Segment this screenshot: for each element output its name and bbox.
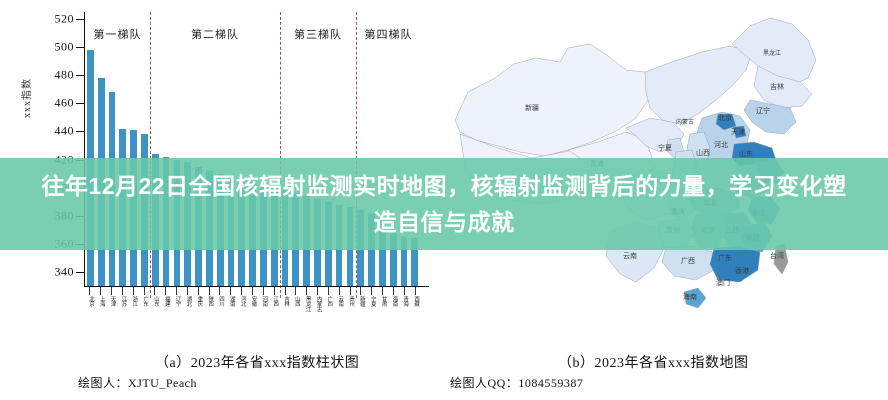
x-axis-tick-label: 湖北	[183, 296, 190, 307]
province-label: 云南	[623, 251, 637, 260]
province-label: 北京	[718, 113, 732, 122]
x-axis-tick-mark	[350, 287, 351, 295]
x-axis-tick-label: 北京	[86, 296, 93, 307]
x-axis-tick-label: 浙江	[129, 296, 136, 307]
y-axis-tick-mark	[76, 272, 84, 273]
x-axis-tick-label: 安徽	[249, 296, 256, 307]
x-axis-tick-mark	[360, 287, 361, 295]
x-axis-tick-mark	[382, 287, 383, 295]
province-label: 黑龙江	[763, 49, 781, 57]
x-axis-tick-mark	[241, 287, 242, 295]
y-axis-tick-label: 500	[55, 40, 75, 55]
x-axis-tick-mark	[274, 287, 275, 295]
x-axis-tick-label: 青海	[400, 296, 407, 307]
y-axis-ticks: 340360380400420440460480500520	[38, 0, 84, 300]
y-axis-tick-label: 340	[55, 264, 75, 279]
province-label: 河北	[714, 141, 728, 149]
x-axis-tick-mark	[404, 287, 405, 295]
x-axis-tick-mark	[415, 287, 416, 295]
x-axis-tick-mark	[133, 287, 134, 295]
map-caption: （b）2023年各省xxx指数地图	[558, 352, 749, 372]
y-axis-tick-mark	[76, 75, 84, 76]
province-label: 山西	[696, 148, 710, 157]
province-label: 天津	[731, 128, 745, 136]
province-label: 台湾	[770, 251, 784, 260]
province-label: 澳门	[716, 278, 730, 287]
province-label: 辽宁	[756, 106, 770, 115]
province-label: 广西	[681, 256, 695, 265]
x-axis-tick-label: 内蒙古	[314, 296, 321, 312]
x-axis-tick-label: 江西	[270, 296, 277, 307]
x-axis-tick-mark	[328, 287, 329, 295]
y-axis-tick-label: 520	[55, 12, 75, 27]
x-axis-tick-label: 吉林	[281, 296, 288, 307]
x-axis-tick-mark	[285, 287, 286, 295]
x-axis-tick-label: 宁夏	[368, 296, 375, 307]
x-axis-tick-mark	[295, 287, 296, 295]
province-shape	[645, 46, 752, 124]
x-axis-tick-label: 辽宁	[173, 296, 180, 307]
x-axis-tick-mark	[339, 287, 340, 295]
province-label: 海南	[683, 292, 697, 301]
y-axis-tick-label: 440	[55, 124, 75, 139]
x-axis-tick-mark	[263, 287, 264, 295]
x-axis-tick-mark	[198, 287, 199, 295]
x-axis-tick-label: 云南	[335, 296, 342, 307]
x-axis-tick-label: 山西	[292, 296, 299, 307]
x-axis-tick-label: 福建	[162, 296, 169, 307]
tier-label: 第三梯队	[294, 26, 342, 42]
x-axis-tick-label: 海南	[389, 296, 396, 307]
tier-label: 第二梯队	[191, 26, 239, 42]
province-label: 山东	[739, 149, 753, 158]
x-axis-tick-mark	[100, 287, 101, 295]
x-axis-tick-mark	[165, 287, 166, 295]
y-axis-tick-mark	[76, 103, 84, 104]
x-axis-tick-mark	[89, 287, 90, 295]
province-shape	[710, 246, 760, 282]
bar-chart-credit: 绘图人：XJTU_Peach	[78, 374, 197, 391]
y-axis-tick-mark	[76, 131, 84, 132]
x-axis-tick-mark	[176, 287, 177, 295]
tier-divider	[150, 12, 151, 298]
tier-label: 第一梯队	[94, 26, 142, 42]
x-axis-tick-mark	[306, 287, 307, 295]
x-axis-tick-mark	[122, 287, 123, 295]
x-axis-tick-mark	[317, 287, 318, 295]
title-overlay-banner: 往年12月22日全国核辐射监测实时地图，核辐射监测背后的力量，学习变化塑造自信与…	[0, 158, 888, 250]
x-axis-tick-mark	[187, 287, 188, 295]
x-axis-tick-label: 甘肃	[379, 296, 386, 307]
x-axis-tick-mark	[154, 287, 155, 295]
y-axis-tick-label: 460	[55, 96, 75, 111]
x-axis-tick-label: 贵州	[346, 296, 353, 307]
x-axis-tick-mark	[111, 287, 112, 295]
x-axis-tick-label: 广西	[324, 296, 331, 307]
x-axis-tick-label: 西藏	[411, 296, 418, 307]
x-axis-tick-label: 河南	[259, 296, 266, 307]
x-axis-tick-label: 黑龙江	[303, 296, 310, 312]
province-label: 内蒙古	[676, 118, 694, 126]
x-axis-tick-label: 湖南	[227, 296, 234, 307]
x-axis-tick-mark	[371, 287, 372, 295]
y-axis-tick-label: 480	[55, 68, 75, 83]
province-label: 宁夏	[658, 143, 672, 152]
x-axis-tickmarks	[84, 287, 420, 296]
x-axis-tick-label: 江苏	[118, 296, 125, 307]
x-axis-tick-mark	[393, 287, 394, 295]
x-axis-tick-label: 上海	[97, 296, 104, 307]
province-label: 吉林	[770, 82, 784, 91]
x-axis-tick-mark	[219, 287, 220, 295]
x-axis-tick-mark	[252, 287, 253, 295]
overlay-title-text: 往年12月22日全国核辐射监测实时地图，核辐射监测背后的力量，学习变化塑造自信与…	[34, 168, 854, 240]
x-axis-tick-mark	[209, 287, 210, 295]
x-axis-tick-label: 陕西	[205, 296, 212, 307]
map-credit: 绘图人QQ：1084559387	[450, 374, 583, 391]
x-axis-tick-label: 河北	[238, 296, 245, 307]
province-label: 广东	[718, 253, 732, 262]
y-axis-tick-mark	[76, 19, 84, 20]
y-axis-tick-mark	[76, 47, 84, 48]
y-axis-title: xxx指数	[18, 78, 33, 118]
x-axis-tick-mark	[144, 287, 145, 295]
tier-divider	[356, 12, 357, 298]
x-axis-tick-label: 重庆	[194, 296, 201, 307]
tier-divider	[280, 12, 281, 298]
x-axis-tick-label: 天津	[108, 296, 115, 307]
province-label: 新疆	[525, 103, 539, 112]
x-axis-tick-label: 四川	[216, 296, 223, 307]
province-label: 香港	[735, 266, 749, 275]
tier-label: 第四梯队	[364, 26, 412, 42]
x-axis-tick-mark	[230, 287, 231, 295]
x-axis-tick-label: 广东	[140, 296, 147, 307]
x-axis-tick-label: 山东	[151, 296, 158, 307]
bar-chart-caption: （a）2023年各省xxx指数柱状图	[155, 352, 359, 372]
x-axis-tick-label: 新疆	[357, 296, 364, 307]
x-axis-labels: 北京上海天津江苏浙江广东山东福建辽宁湖北重庆陕西四川湖南河北安徽河南江西吉林山西…	[84, 296, 420, 338]
figure-canvas: xxx指数 340360380400420440460480500520 第一梯…	[0, 0, 888, 400]
